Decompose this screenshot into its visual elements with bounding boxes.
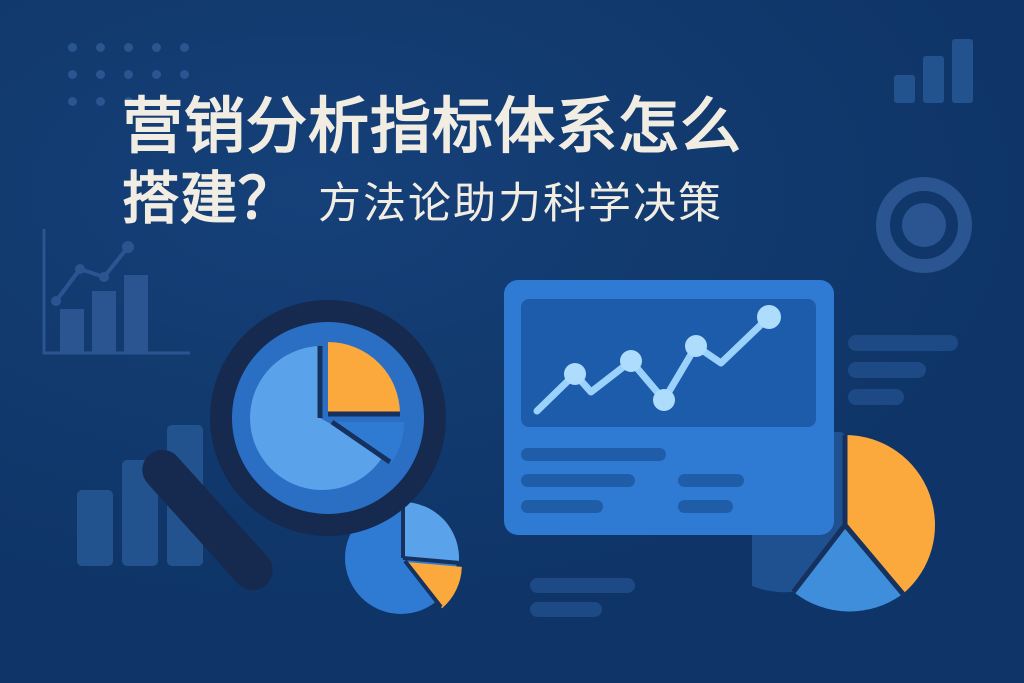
banner-root: 营销分析指标体系怎么 搭建？ 方法论助力科学决策 [0, 0, 1024, 683]
dashboard-chart-area [521, 299, 816, 427]
analytics-dashboard-card[interactable] [504, 280, 834, 535]
magnified-pie-chart [232, 322, 424, 514]
dashboard-trend-line [521, 299, 816, 427]
combo-chart-left [30, 225, 195, 370]
magnifier-lens [232, 322, 424, 514]
